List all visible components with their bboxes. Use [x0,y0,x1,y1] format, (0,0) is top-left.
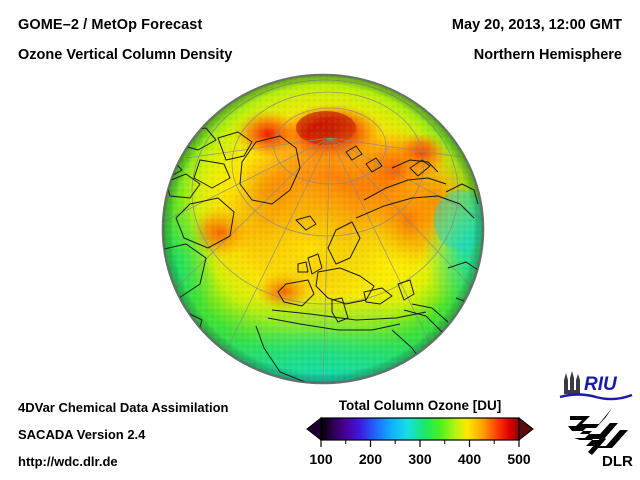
colorbar-title: Total Column Ozone [DU] [305,398,535,413]
colorbar-svg: 100 200 300 400 500 [305,417,535,473]
version-label: SACADA Version 2.4 [18,427,145,442]
orthographic-globe-svg [160,72,486,386]
globe-map [160,72,486,386]
region-label: Northern Hemisphere [474,47,622,63]
colorbar-tick-label: 100 [309,451,333,467]
colorbar-tick-label: 400 [458,451,482,467]
forecast-datetime: May 20, 2013, 12:00 GMT [452,17,622,33]
globe-disk [160,72,486,386]
source-url[interactable]: http://wdc.dlr.de [18,454,118,469]
ozone-forecast-figure: GOME–2 / MetOp Forecast May 20, 2013, 12… [0,0,640,480]
colorbar: Total Column Ozone [DU] [305,398,535,473]
colorbar-left-arrow [307,418,321,440]
method-label: 4DVar Chemical Data Assimilation [18,400,229,415]
riu-tower-icon [564,371,580,394]
dlr-logo-svg: DLR [566,408,634,470]
colorbar-tick-label: 200 [359,451,383,467]
riu-wave-icon [560,395,632,400]
dlr-mark-icon [566,408,630,455]
dlr-logo: DLR [566,408,634,470]
dlr-logo-text: DLR [602,453,633,470]
riu-logo-text: RIU [584,374,618,395]
page-title: GOME–2 / MetOp Forecast [18,17,202,33]
riu-logo-svg: RIU [558,368,634,402]
colorbar-tick-labels: 100 200 300 400 500 [309,451,531,467]
colorbar-tick-label: 300 [408,451,432,467]
colorbar-ticks [321,440,519,447]
colorbar-gradient [321,418,519,440]
product-subtitle: Ozone Vertical Column Density [18,47,232,63]
colorbar-tick-label: 500 [507,451,531,467]
riu-logo: RIU [558,368,634,402]
colorbar-right-arrow [519,418,533,440]
